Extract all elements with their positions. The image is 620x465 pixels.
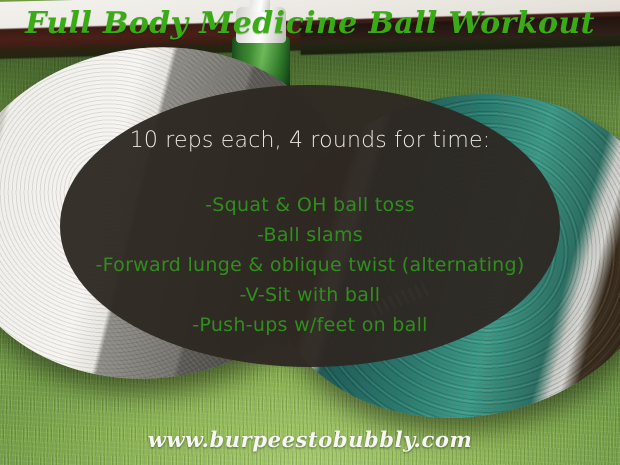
workout-poster: Full Body Medicine Ball Workout 10 reps … xyxy=(0,0,620,465)
list-item: -Squat & OH ball toss xyxy=(0,190,620,220)
movement-list: -Squat & OH ball toss -Ball slams -Forwa… xyxy=(0,190,620,340)
list-item: -Forward lunge & oblique twist (alternat… xyxy=(0,250,620,280)
list-item: -Push-ups w/feet on ball xyxy=(0,310,620,340)
page-title: Full Body Medicine Ball Workout xyxy=(0,6,620,41)
website-watermark: www.burpeestobubbly.com xyxy=(0,427,620,452)
list-item: -V-Sit with ball xyxy=(0,280,620,310)
list-item: -Ball slams xyxy=(0,220,620,250)
reps-header: 10 reps each, 4 rounds for time: xyxy=(0,128,620,153)
